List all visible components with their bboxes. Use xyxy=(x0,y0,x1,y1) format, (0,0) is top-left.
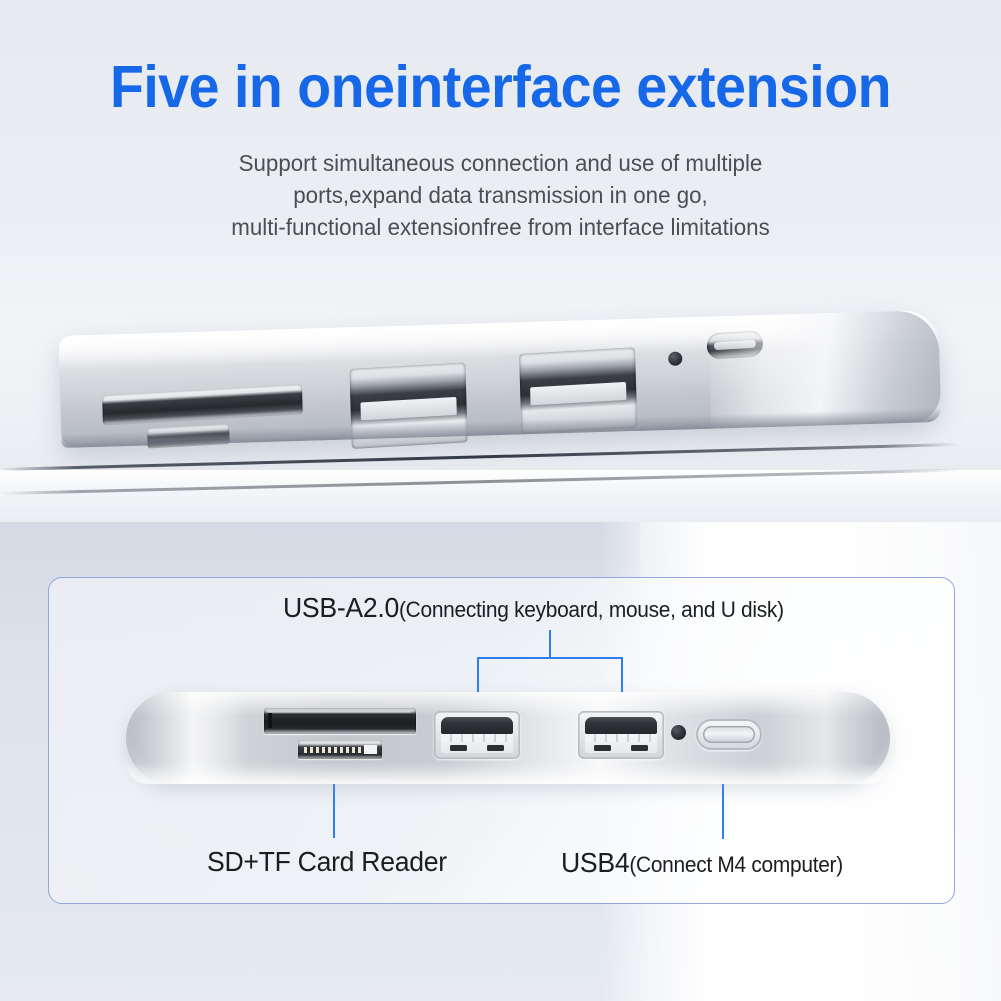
callout-usba-bar xyxy=(477,657,623,659)
diagram-usb-a-port-2 xyxy=(578,711,664,759)
page-subtitle: Support simultaneous connection and use … xyxy=(139,147,862,243)
label-usb-a-note: (Connecting keyboard, mouse, and U disk) xyxy=(399,597,784,622)
subtitle-line-1: Support simultaneous connection and use … xyxy=(139,147,862,179)
usb-a-port-1-tabs xyxy=(441,745,513,753)
label-usb-a-title: USB-A2.0 xyxy=(283,592,399,623)
diagram-sd-card-slot xyxy=(264,708,416,734)
label-usb-a: USB-A2.0(Connecting keyboard, mouse, and… xyxy=(283,592,784,624)
usb-a-port-2-tongue xyxy=(585,734,657,742)
usb-a-port-2-shell xyxy=(585,717,657,734)
page-title: Five in oneinterface extension xyxy=(30,58,971,117)
product-marketing-image: Five in oneinterface extension Support s… xyxy=(0,0,1001,1001)
label-sd-tf-title: SD+TF Card Reader xyxy=(207,846,447,877)
label-usb4-note: (Connect M4 computer) xyxy=(629,852,843,877)
callout-usba-stem xyxy=(549,630,551,659)
hub-bottom-highlight xyxy=(126,762,890,784)
subtitle-line-2: ports,expand data transmission in one go… xyxy=(139,179,862,211)
laptop-lid-plate xyxy=(0,470,1001,522)
hub-body-photo xyxy=(58,310,941,448)
label-sd-tf: SD+TF Card Reader xyxy=(207,846,447,878)
usb-a-port-1-inner xyxy=(441,717,513,753)
tf-slot-tab xyxy=(364,745,377,754)
hub-front-view xyxy=(126,692,890,784)
usb-a-port-2-inner xyxy=(585,717,657,753)
diagram-led-indicator xyxy=(671,725,686,740)
subtitle-line-3: multi-functional extensionfree from inte… xyxy=(139,211,862,243)
photo-led-indicator xyxy=(668,352,682,366)
diagram-usb-a-port-1 xyxy=(434,711,520,759)
tf-contact-pins xyxy=(304,747,362,753)
photo-sd-card-slot xyxy=(102,384,303,425)
usb-a-port-1-shell xyxy=(441,717,513,734)
usb-c-port-inner xyxy=(703,726,755,743)
usb-a-port-2-tabs xyxy=(585,745,657,753)
label-usb4: USB4(Connect M4 computer) xyxy=(561,847,843,879)
diagram-tf-card-slot xyxy=(298,740,382,759)
diagram-usb-c-port xyxy=(696,719,762,750)
label-usb4-title: USB4 xyxy=(561,847,629,878)
usb-a-port-1-tongue xyxy=(441,734,513,742)
